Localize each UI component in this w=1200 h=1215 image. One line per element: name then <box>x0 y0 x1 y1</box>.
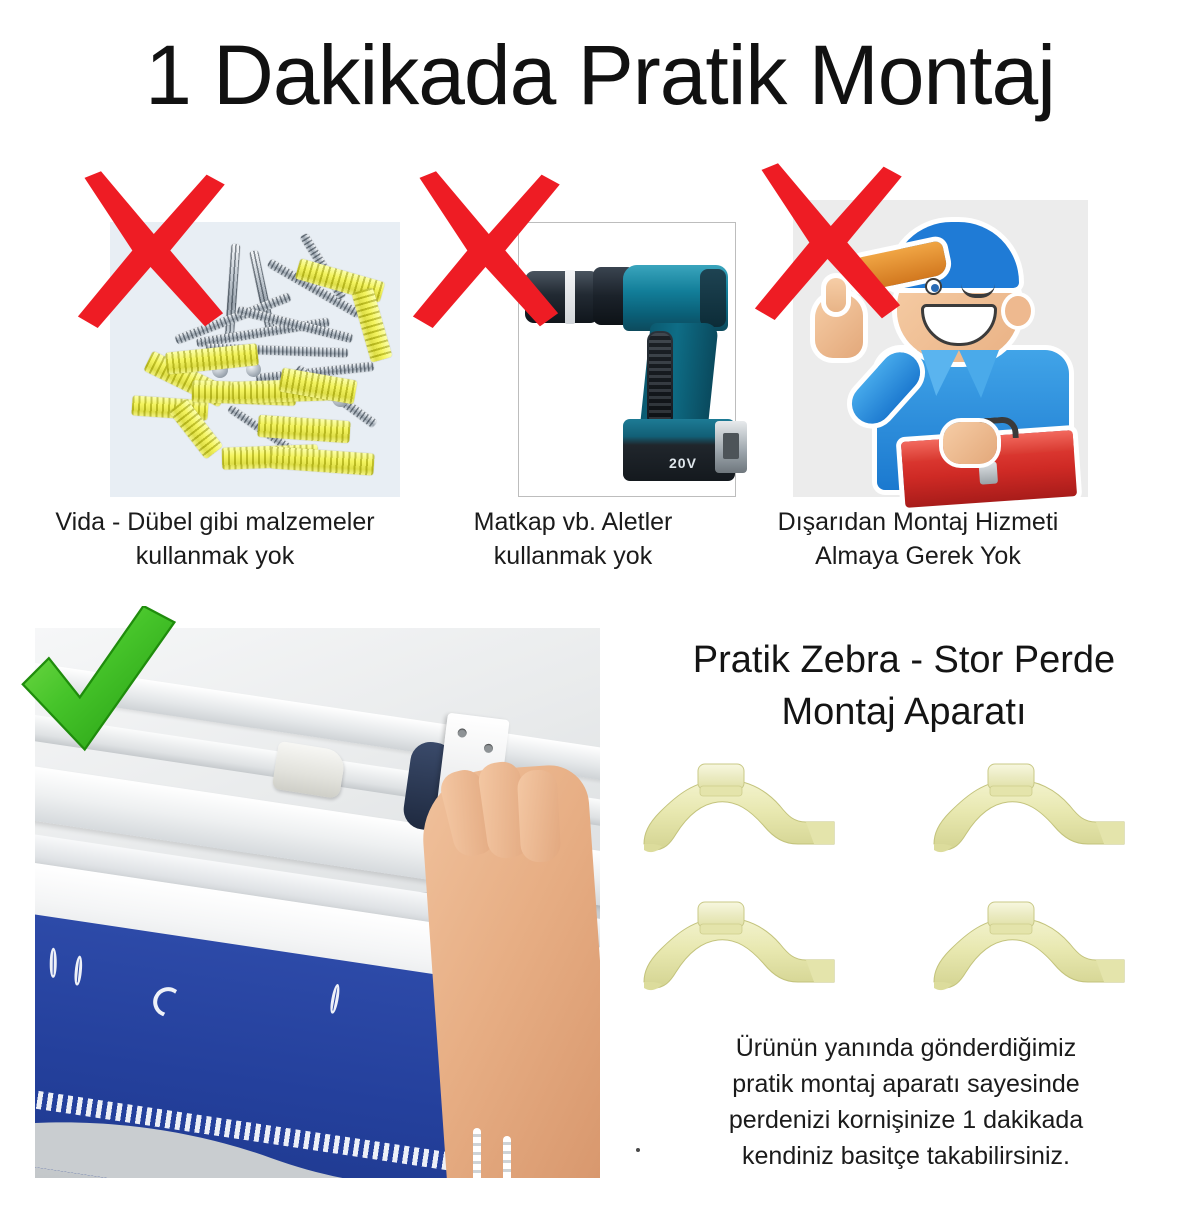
product-description: Ürünün yanında gönderdiğimiz pratik mont… <box>632 1030 1180 1174</box>
caption-line-1: Dışarıdan Montaj Hizmeti <box>718 505 1118 539</box>
card-screws-dowels: Vida - Dübel gibi malzemeler kullanmak y… <box>30 160 400 580</box>
card-drill: 20V Matkap vb. Aletler kullanmak yok <box>408 160 738 580</box>
bead-chain <box>503 1136 511 1178</box>
green-check-mark <box>12 606 177 756</box>
description-line-1: Ürünün yanında gönderdiğimiz <box>632 1030 1180 1066</box>
battery-voltage-label: 20V <box>669 455 697 471</box>
handyman-cartoon <box>793 200 1088 497</box>
fabric-embroidery <box>73 955 83 986</box>
handyman-ear <box>1005 296 1031 326</box>
description-line-2: pratik montaj aparatı sayesinde <box>632 1066 1180 1102</box>
caption-line-1: Vida - Dübel gibi malzemeler <box>30 505 400 539</box>
card-caption: Vida - Dübel gibi malzemeler kullanmak y… <box>30 505 400 573</box>
bead-chain <box>473 1128 481 1178</box>
mounting-bracket-part <box>638 896 843 1001</box>
bracket-image-grid <box>630 758 1185 1020</box>
drill-body <box>623 265 728 331</box>
cordless-drill-photo: 20V <box>518 222 736 497</box>
fabric-embroidery <box>329 983 341 1014</box>
heading-line-1: Pratik Zebra - Stor Perde <box>608 634 1200 686</box>
drill-chuck <box>525 271 599 323</box>
caption-line-2: Almaya Gerek Yok <box>718 539 1118 573</box>
card-installation-service: Dışarıdan Montaj Hizmeti Almaya Gerek Yo… <box>748 160 1088 580</box>
handyman-illustration <box>793 200 1088 497</box>
caption-line-2: kullanmak yok <box>30 539 400 573</box>
toolbox-latch <box>979 461 998 484</box>
bracket-screw-hole <box>457 728 467 738</box>
screws-and-dowels-photo <box>110 222 400 497</box>
fabric-embroidery <box>50 948 57 978</box>
handyman-eye <box>925 278 942 295</box>
caption-line-2: kullanmak yok <box>388 539 758 573</box>
drill-battery-clip <box>715 421 747 473</box>
thumbs-up-icon <box>815 294 863 358</box>
description-line-4: kendiniz basitçe takabilirsiniz. <box>632 1138 1180 1174</box>
mounting-bracket-part <box>638 758 843 863</box>
card-caption: Matkap vb. Aletler kullanmak yok <box>388 505 758 573</box>
page-title: 1 Dakikada Pratik Montaj <box>0 20 1200 130</box>
fabric-crescent-motif <box>148 982 189 1023</box>
product-heading: Pratik Zebra - Stor Perde Montaj Aparatı <box>608 634 1200 738</box>
mounting-bracket-part <box>928 896 1133 1001</box>
heading-line-2: Montaj Aparatı <box>608 686 1200 738</box>
finger <box>517 769 562 863</box>
caption-line-1: Matkap vb. Aletler <box>388 505 758 539</box>
stray-dot <box>636 1148 640 1152</box>
card-caption: Dışarıdan Montaj Hizmeti Almaya Gerek Yo… <box>718 505 1118 573</box>
screw-pile <box>110 222 400 497</box>
mounting-bracket-part <box>928 758 1133 863</box>
product-info-column: Pratik Zebra - Stor Perde Montaj Aparatı <box>608 628 1200 1188</box>
description-line-3: perdenizi kornişinize 1 dakikada <box>632 1102 1180 1138</box>
top-row-cards: Vida - Dübel gibi malzemeler kullanmak y… <box>0 160 1200 580</box>
drill-illustration: 20V <box>519 223 735 496</box>
drill-grip <box>647 331 673 427</box>
handyman-hand <box>943 422 997 464</box>
bracket-screw-hole <box>483 743 493 753</box>
